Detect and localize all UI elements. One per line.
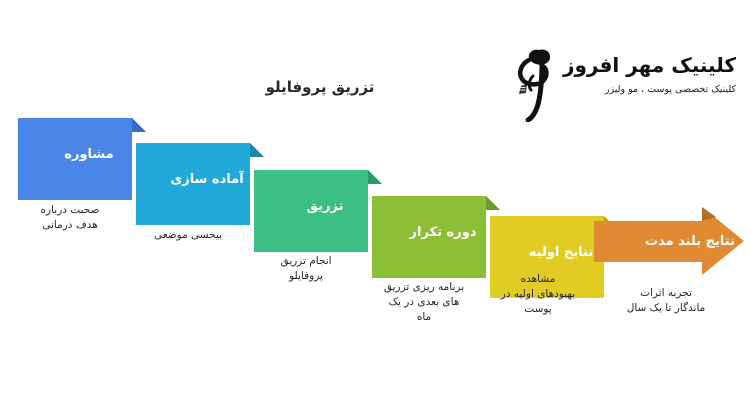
process-step-4[interactable]: دوره تکرار (372, 196, 500, 278)
step-1-shape (18, 118, 146, 200)
process-step-1[interactable]: مشاوره (18, 118, 146, 200)
page-title: تزریق پروفایلو (0, 78, 695, 96)
process-step-3[interactable]: تزریق (254, 170, 382, 252)
step-2-shape (136, 143, 264, 225)
step-5-description: مشاهده بهبودهای اولیه در پوست (476, 272, 600, 318)
infographic-canvas: کلینیک مهر افروز کلینیک تخصصی پوست ، مو … (0, 0, 750, 400)
step-4-shape (372, 196, 500, 278)
step-6-shape (594, 207, 744, 289)
step-2-description: بیحسی موضعی (126, 228, 250, 243)
step-6-description: تجربه اثرات ماندگار تا یک سال (596, 286, 736, 316)
step-3-description: انجام تزریق پروفایلو (244, 254, 368, 284)
brand-name: کلینیک مهر افروز (563, 54, 736, 77)
step-4-description: برنامه ریزی تزریق های بعدی در یک ماه (362, 280, 486, 326)
step-1-description: صحبت درباره هدف درمانی (8, 203, 132, 233)
process-step-2[interactable]: آماده سازی (136, 143, 264, 225)
step-3-shape (254, 170, 382, 252)
process-step-6[interactable]: نتایج بلند مدت (594, 207, 744, 289)
